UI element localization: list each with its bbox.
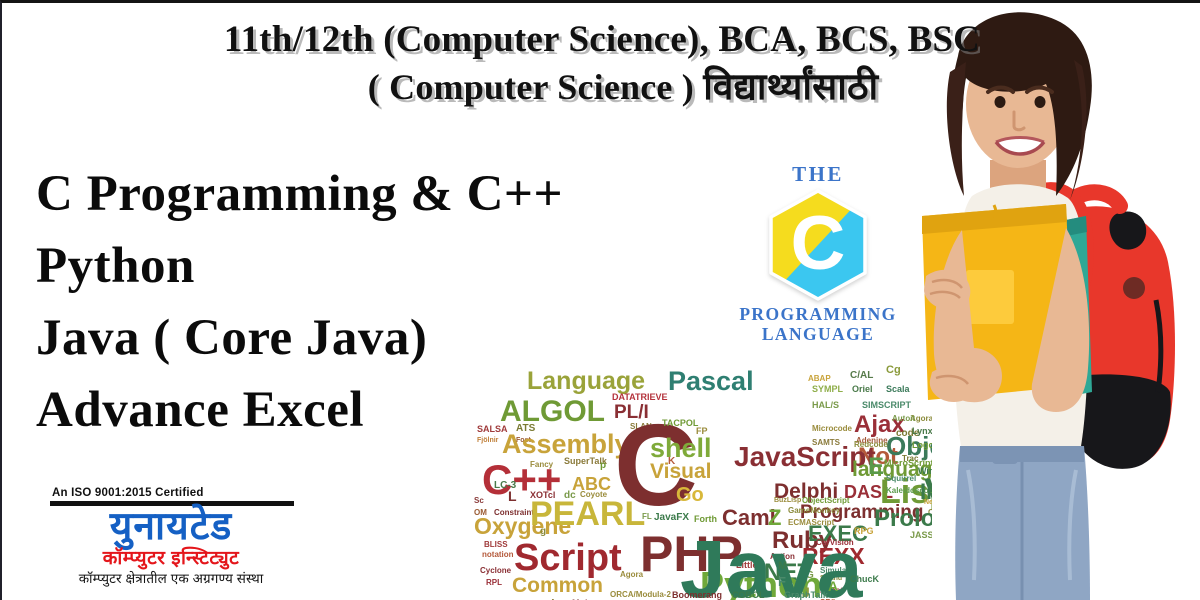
institute-tagline: कॉम्प्युटर क्षेत्रातील एक अग्रगण्य संस्थ… xyxy=(42,570,300,587)
course-item-java: Java ( Core Java) xyxy=(36,302,596,374)
word-cloud-term: A xyxy=(828,579,838,593)
word-cloud-term: SAMTS xyxy=(812,439,840,447)
word-cloud-term: Lynx xyxy=(912,427,932,436)
word-cloud-term: Forth xyxy=(694,515,717,524)
word-cloud-term: M xyxy=(778,561,787,572)
word-cloud-term: Scala xyxy=(886,385,910,394)
word-cloud-term: ObjectScript xyxy=(802,497,850,505)
word-cloud-term: Boomerang xyxy=(672,591,722,600)
word-cloud-term: JavaFX xyxy=(654,513,689,523)
word-cloud-term: GameMonkey xyxy=(788,507,840,515)
svg-text:C: C xyxy=(791,201,846,286)
course-item-advance-excel: Advance Excel xyxy=(36,374,596,446)
word-cloud-term: notation xyxy=(482,551,514,559)
institute-subtitle: कॉम्प्युटर इन्स्टिट्युट xyxy=(42,548,300,570)
word-cloud-term: ABAP xyxy=(808,375,831,383)
word-cloud-term: Visual xyxy=(650,461,711,482)
word-cloud-term: Prolog xyxy=(874,507,932,531)
word-cloud-term: F xyxy=(778,575,786,588)
word-cloud-term: RPL xyxy=(486,579,502,587)
word-cloud-term: Agora xyxy=(620,571,643,579)
word-cloud-term: g xyxy=(540,527,546,537)
word-cloud-term: Microsoft xyxy=(672,363,713,365)
word-cloud-term: BuzLisp xyxy=(774,497,801,504)
word-cloud-term: Windows/Dos xyxy=(918,467,932,476)
word-cloud-term: Script xyxy=(514,539,622,577)
course-item-c-programming: C Programming & C++ xyxy=(36,158,596,230)
word-cloud-term: Squirrel xyxy=(886,475,916,483)
institute-logo: An ISO 9001:2015 Certified युनायटेड कॉम्… xyxy=(42,487,300,587)
c-language-logo: THE C PROGRAMMING LANGUAGE xyxy=(720,163,916,348)
word-cloud-term: Cg xyxy=(886,365,901,376)
word-cloud-term: FL xyxy=(642,513,652,521)
word-cloud-term: TACPOL xyxy=(662,419,698,428)
word-cloud-term: L xyxy=(508,489,517,503)
word-cloud-term: C/AL xyxy=(850,371,873,381)
word-cloud-term: Go xyxy=(676,485,704,505)
word-cloud-term: Fancy xyxy=(530,461,553,469)
word-cloud-term: p xyxy=(600,461,606,471)
word-cloud-term: BLISS xyxy=(484,541,508,549)
word-cloud-term: SYMPL xyxy=(812,385,843,394)
word-cloud-term: Pascal xyxy=(668,368,754,395)
institute-name: युनायटेड xyxy=(42,506,300,548)
c-logo-programming-label: PROGRAMMING xyxy=(720,304,916,324)
word-cloud-term: SIMSCRIPT xyxy=(862,401,911,410)
headline-line-2-prefix: ( Computer Science ) xyxy=(368,67,694,107)
word-cloud-term: Oriel xyxy=(852,385,873,394)
c-logo-hexagon-icon: C xyxy=(766,189,870,301)
c-logo-the-label: THE xyxy=(720,163,916,185)
word-cloud-term: Logo xyxy=(912,441,932,450)
word-cloud-term: GraphTalk xyxy=(784,591,828,600)
word-cloud-term: Cyclone xyxy=(480,567,511,575)
word-cloud-term: COBOL xyxy=(732,591,765,600)
poster-canvas: 11th/12th (Computer Science), BCA, BCS, … xyxy=(0,0,1200,600)
word-cloud-term: JASS xyxy=(910,531,932,540)
word-cloud-term: Sc xyxy=(474,497,484,505)
headline-line-1: 11th/12th (Computer Science), BCA, BCS, … xyxy=(2,17,1200,63)
iso-certification-label: An ISO 9001:2015 Certified xyxy=(42,487,300,500)
word-cloud-term: ChucK xyxy=(850,575,879,584)
headline-block: 11th/12th (Computer Science), BCA, BCS, … xyxy=(2,17,1200,112)
word-cloud-term: Autoit xyxy=(892,415,915,423)
c-logo-language-label: LANGUAGE xyxy=(720,324,916,344)
word-cloud-term: Redcode xyxy=(854,441,888,449)
word-cloud-term: shell xyxy=(650,435,712,462)
word-cloud-term: ORCA/Modula-2 xyxy=(610,591,671,599)
word-cloud-term: PEARL xyxy=(530,497,645,531)
word-cloud-term: Microcode xyxy=(812,425,852,433)
course-list: C Programming & C++ Python Java ( Core J… xyxy=(36,158,596,446)
headline-line-2: ( Computer Science ) विद्यार्थ्यांसाठी xyxy=(2,63,1200,112)
headline-line-2-devanagari: विद्यार्थ्यांसाठी xyxy=(703,67,878,108)
word-cloud-term: HAL/S xyxy=(812,401,839,410)
word-cloud-term: Common xyxy=(512,575,603,596)
course-item-python: Python xyxy=(36,230,596,302)
